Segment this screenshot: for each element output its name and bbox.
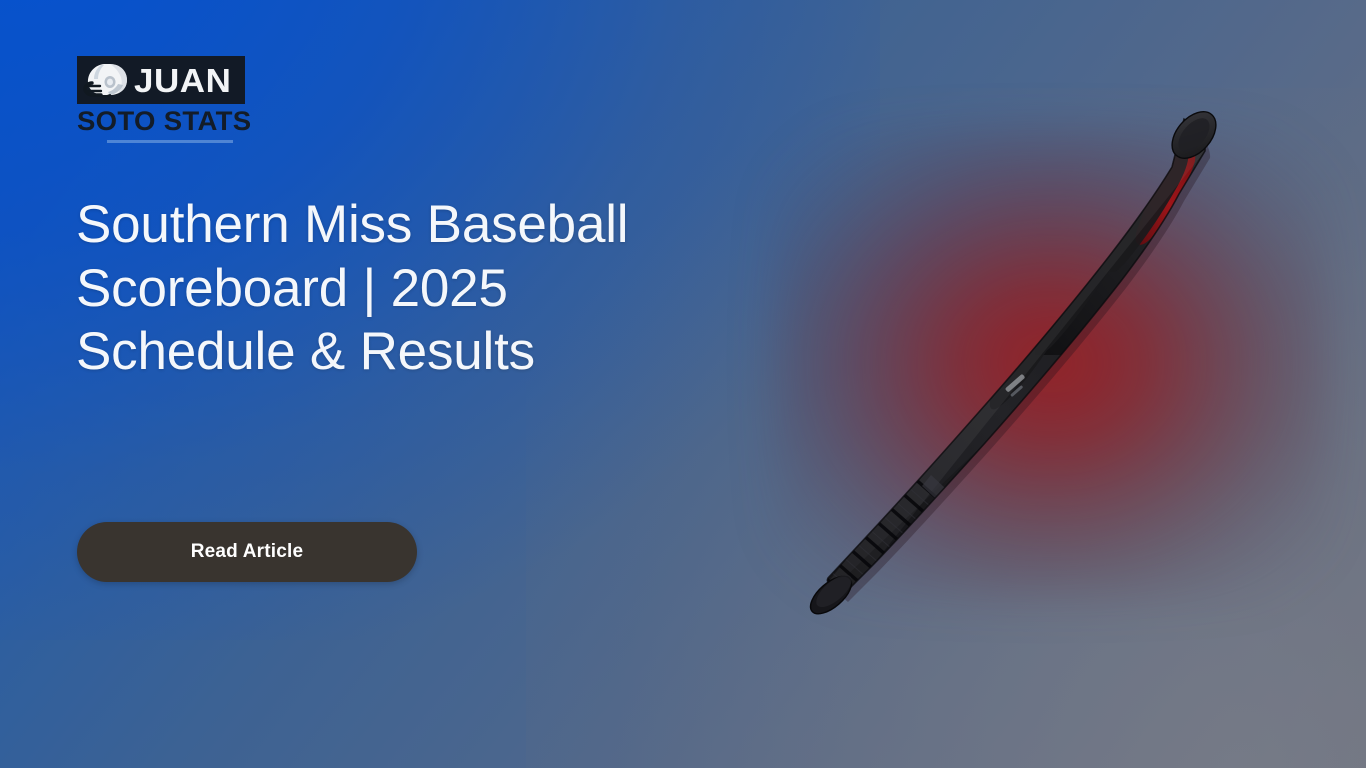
read-article-button[interactable]: Read Article (77, 522, 417, 582)
page-title: Southern Miss Baseball Scoreboard | 2025… (76, 193, 736, 384)
logo-badge-word: JUAN (134, 64, 231, 97)
logo-subtitle: SOTO STATS (77, 108, 248, 135)
football-helmet-icon (83, 62, 129, 98)
baseball-bat-icon (735, 95, 1275, 625)
site-logo[interactable]: JUAN SOTO STATS (77, 56, 245, 143)
baseball-bat-image (735, 95, 1275, 625)
logo-badge: JUAN (77, 56, 245, 104)
hero-banner: JUAN SOTO STATS Southern Miss Baseball S… (0, 0, 1366, 768)
logo-underline (107, 140, 233, 143)
